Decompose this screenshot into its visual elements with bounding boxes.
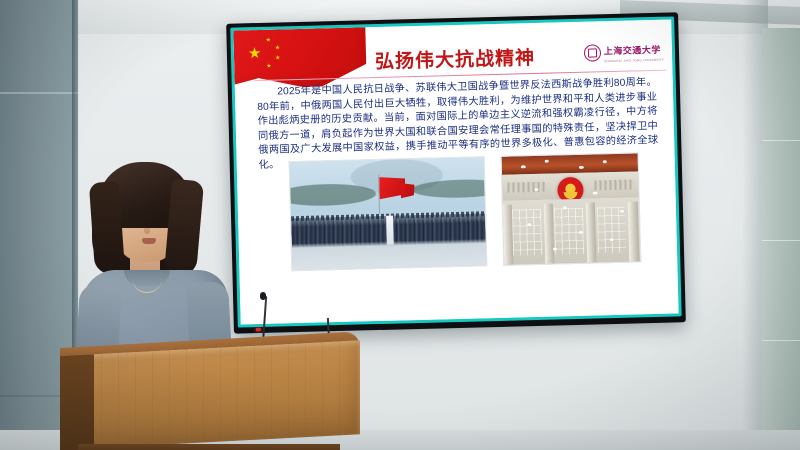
- slide-photo-row: [289, 152, 642, 269]
- lecture-room-scene: ★ ★ ★ ★ ★ 弘扬伟大抗战精神 上海交通大学 SHANGHAI JIAO …: [0, 0, 800, 450]
- university-name-cn: 上海交通大学: [604, 45, 661, 56]
- mouth: [142, 238, 156, 244]
- microphone-head: [260, 292, 266, 300]
- logo-text-block: 上海交通大学 SHANGHAI JIAO TONG UNIVERSITY: [604, 40, 665, 64]
- building-colonnade: [502, 198, 640, 265]
- flag-star-large: ★: [248, 46, 262, 61]
- university-logo: 上海交通大学 SHANGHAI JIAO TONG UNIVERSITY: [584, 40, 665, 64]
- lectern-base: [78, 444, 340, 450]
- wooden-lectern: [60, 348, 360, 450]
- tile-seam: [762, 340, 800, 341]
- lectern-front-panel: [60, 340, 360, 450]
- dove-icon: [553, 247, 557, 250]
- lectern-side-panel: [60, 354, 94, 450]
- tile-seam: [762, 240, 800, 241]
- parade-commander: [386, 216, 394, 245]
- hair-side-right: [164, 179, 204, 277]
- wood-grain: [60, 340, 360, 450]
- building-column: [543, 204, 554, 264]
- slide: ★ ★ ★ ★ ★ 弘扬伟大抗战精神 上海交通大学 SHANGHAI JIAO …: [233, 20, 678, 325]
- dove-icon: [578, 230, 582, 233]
- flag-star-small: ★: [266, 38, 272, 44]
- building-window: [597, 207, 627, 254]
- hair-side-left: [89, 181, 125, 275]
- right-wall-pilaster: [762, 28, 800, 450]
- flag-star-small: ★: [275, 45, 281, 51]
- panel-seam: [0, 92, 78, 94]
- university-seal-icon: [584, 44, 601, 61]
- building-column: [502, 205, 513, 265]
- dove-icon: [592, 191, 597, 194]
- dove-icon: [563, 206, 567, 209]
- slide-title: 弘扬伟大抗战精神: [330, 42, 581, 75]
- great-hall-emblem-photo: [500, 152, 641, 265]
- dove-icon: [521, 165, 526, 168]
- building-column: [628, 201, 639, 261]
- building-column: [586, 203, 597, 263]
- university-name-en: SHANGHAI JIAO TONG UNIVERSITY: [604, 58, 664, 64]
- dove-icon: [579, 166, 584, 169]
- tile-seam: [762, 140, 800, 141]
- presentation-display[interactable]: ★ ★ ★ ★ ★ 弘扬伟大抗战精神 上海交通大学 SHANGHAI JIAO …: [226, 12, 686, 333]
- power-led-icon: [256, 328, 261, 331]
- display-screen[interactable]: ★ ★ ★ ★ ★ 弘扬伟大抗战精神 上海交通大学 SHANGHAI JIAO …: [233, 20, 678, 325]
- building-window: [512, 209, 542, 256]
- military-parade-photo: [289, 156, 487, 271]
- flag-star-small: ★: [266, 64, 272, 70]
- flag-star-small: ★: [275, 55, 281, 61]
